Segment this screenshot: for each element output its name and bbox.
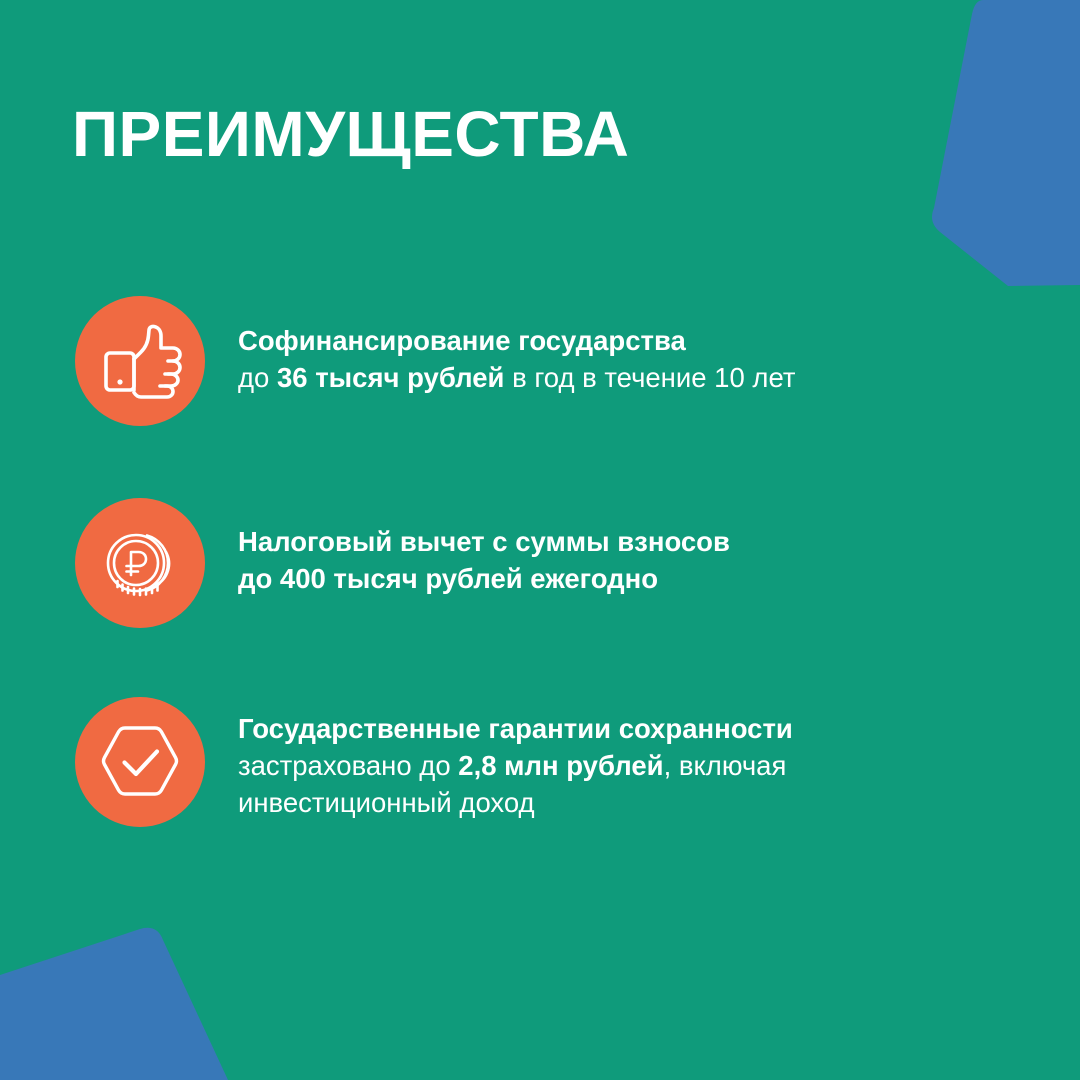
benefit-item: Налоговый вычет с суммы взносов до 400 т…	[75, 498, 1015, 628]
benefit-item: Софинансирование государства до 36 тысяч…	[75, 296, 1015, 426]
hexagon-check-icon	[98, 720, 182, 804]
thumbs-up-icon	[97, 318, 183, 404]
benefit-detail-suffix: , включая	[664, 750, 787, 781]
benefit-detail-prefix: до	[238, 362, 277, 393]
benefit-item: Государственные гарантии сохранности зас…	[75, 697, 1015, 827]
benefits-slide: ПРЕИМУЩЕСТВА Софинансиров	[0, 0, 1080, 1080]
bottom-left-blue-shape	[0, 928, 228, 1080]
benefit-detail: застраховано до 2,8 млн рублей, включая	[238, 747, 1015, 784]
ruble-coin-icon	[100, 523, 180, 603]
benefit-heading: Государственные гарантии сохранности	[238, 710, 1015, 747]
benefit-detail-line2: инвестиционный доход	[238, 784, 1015, 821]
benefit-heading: Налоговый вычет с суммы взносов	[238, 523, 1015, 560]
top-right-blue-shape	[932, 0, 1080, 286]
benefit-detail-suffix: в год в течение 10 лет	[504, 362, 795, 393]
benefit-heading: Софинансирование государства	[238, 322, 1015, 359]
page-title: ПРЕИМУЩЕСТВА	[72, 101, 629, 168]
benefit-detail-strong: 2,8 млн рублей	[458, 750, 663, 781]
benefit-text: Софинансирование государства до 36 тысяч…	[205, 296, 1015, 396]
benefit-text: Налоговый вычет с суммы взносов до 400 т…	[205, 498, 1015, 597]
benefit-icon-badge	[75, 697, 205, 827]
benefit-detail: до 36 тысяч рублей в год в течение 10 ле…	[238, 359, 1015, 396]
benefit-detail-prefix: застраховано до	[238, 750, 458, 781]
benefit-icon-badge	[75, 296, 205, 426]
benefit-text: Государственные гарантии сохранности зас…	[205, 697, 1015, 821]
benefit-detail-strong: 36 тысяч рублей	[277, 362, 504, 393]
benefit-detail: до 400 тысяч рублей ежегодно	[238, 560, 1015, 597]
benefit-icon-badge	[75, 498, 205, 628]
